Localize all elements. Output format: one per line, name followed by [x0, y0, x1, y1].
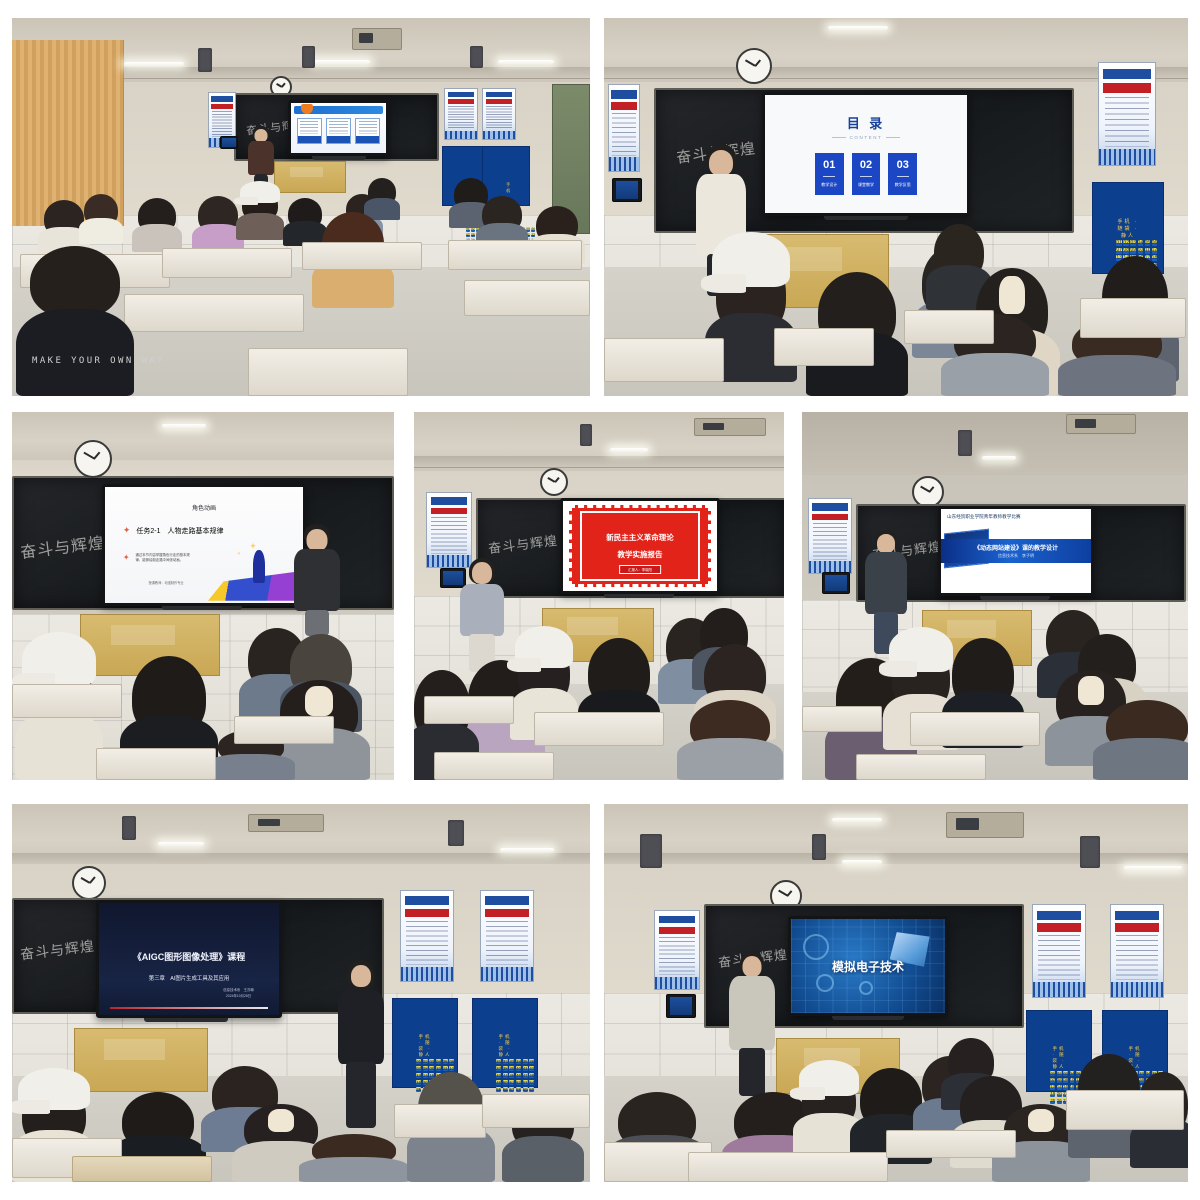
teacher-figure: [456, 558, 508, 672]
photo-collage: 奋斗与辉煌: [0, 0, 1200, 1200]
slide-box: [297, 118, 322, 144]
star-icon: ✦: [123, 525, 131, 536]
wall-clock: [540, 468, 568, 496]
student-desk: [886, 1130, 1016, 1158]
pocket-board-header: 手机 · 随袋 · 静人: [1116, 218, 1139, 239]
slide-ring-decor: [859, 981, 873, 995]
student-figure: [288, 198, 322, 246]
student-desk: [774, 328, 874, 366]
slide-footer-text: 授课教师：动漫制作专业: [149, 580, 184, 585]
slide-title: 《动态网站建设》课的教学设计: [974, 543, 1058, 552]
slide-card: 03 教学反思: [888, 153, 917, 195]
student-figure: [802, 1072, 856, 1158]
slide-line1: 新民主主义革命理论: [606, 532, 674, 543]
student-desk: [72, 1156, 212, 1182]
student-foreground: [30, 246, 120, 396]
student-desk: [96, 748, 216, 780]
wall-clock: [736, 48, 772, 84]
presentation-screen: 模拟电子技术: [788, 916, 948, 1016]
slide-meta: 信息技术系 王亦琳 2024年10月28日: [223, 988, 254, 999]
slide-byline: 汇报人：李晓阳: [619, 565, 661, 574]
wooden-podium: [274, 161, 346, 193]
slide-card: 01 教学设计: [815, 153, 844, 195]
slide-content-menu: 目 录 CONTENT 01 教学设计: [765, 95, 967, 213]
ceiling-beam: [414, 456, 784, 468]
photo-classroom-ideology-report: 奋斗与辉煌 新民主主义革命理论 教学实施报告 汇报人：李晓阳: [414, 412, 784, 780]
presentation-screen: 目 录 CONTENT 01 教学设计: [762, 92, 970, 216]
ceiling-light: [124, 62, 184, 66]
ceiling-light: [842, 860, 882, 864]
slide-header-band: [294, 106, 383, 114]
slide-byline: 信息技术系 李子明: [998, 553, 1034, 559]
star-icon: ✦: [123, 553, 130, 562]
artwork-path: [208, 566, 295, 601]
blackboard-chalk-text: 奋斗与辉煌: [19, 936, 96, 965]
pocket-board-header: 手机 · 随袋 · 静人: [1050, 1046, 1067, 1070]
screen-base: [162, 606, 242, 610]
ceiling-light: [498, 60, 554, 64]
jacket-text: MAKE YOUR OWN WAY: [32, 356, 165, 366]
ceiling-light: [162, 424, 206, 428]
pocket-board-header: 手机 · 随袋 · 静人: [416, 1034, 434, 1058]
slide-title-band: 《动态网站建设》课的教学设计 信息技术系 李子明: [941, 539, 1091, 563]
student-desk: [302, 242, 422, 270]
student-desk: [802, 706, 882, 732]
slide-line2: 教学实施报告: [618, 549, 663, 560]
blackboard-chalk-text: 奋斗与辉煌: [19, 529, 106, 563]
slide-subtitle: CONTENT: [832, 135, 901, 140]
sparkle-icon: ✦: [237, 551, 241, 557]
screen-base: [604, 594, 674, 598]
speaker-icon: [448, 820, 464, 846]
presentation-screen: 山东经贸职业学院青年教师教学比赛 《动态网站建设》课的教学设计 信息技术系 李子…: [938, 506, 1094, 596]
student-figure: [198, 196, 238, 254]
preview-monitor: [612, 178, 642, 202]
slide-number-badge: [301, 104, 314, 114]
student-figure: [84, 194, 118, 244]
student-desk: [910, 712, 1040, 746]
speaker-icon: [640, 834, 662, 868]
wall-poster: [654, 910, 700, 990]
wall-poster: [444, 88, 478, 140]
screen-base: [980, 596, 1050, 600]
student-desk: [1066, 1090, 1184, 1130]
pocket-grid: 313233343536 373839404142 434445464748 4…: [496, 1059, 514, 1093]
ceiling: [12, 412, 394, 460]
card-number: 03: [897, 159, 909, 171]
card-label: 课堂教学: [858, 182, 874, 188]
student-desk: [162, 248, 292, 278]
preview-monitor: [666, 994, 696, 1018]
wall-clock: [74, 440, 112, 478]
presentation-screen: 角色动画 ✦ 任务2-1 人物走路基本规律 ✦ 通过本节内容掌握角色行走的基本规…: [102, 484, 306, 606]
slide-task-text: 任务2-1 人物走路基本规律: [136, 526, 223, 536]
projector: [352, 28, 402, 50]
ceiling-light: [828, 26, 888, 30]
blackboard-chalk-text: 奋斗与辉煌: [487, 530, 559, 557]
screen-base: [312, 156, 366, 160]
wall-poster: [1032, 904, 1086, 998]
slide-body-text: 通过本节内容掌握角色行走的基本规律，能够绘制走路中间张动画。: [136, 553, 194, 563]
card-number: 02: [860, 159, 872, 171]
teacher-figure: [334, 960, 388, 1128]
student-desk: [856, 754, 986, 780]
projector: [946, 812, 1024, 838]
card-number: 01: [823, 159, 835, 171]
pocket-board-header: 手机 · 随袋 · 静人: [496, 1034, 514, 1058]
card-label: 教学设计: [821, 182, 837, 188]
student-figure: [242, 188, 278, 240]
wall-poster: [1098, 62, 1156, 166]
slide-box: [326, 118, 351, 144]
wooden-podium: [74, 1028, 208, 1092]
student-desk: [434, 752, 554, 780]
student-desk: [904, 310, 994, 344]
slide-three-box: [291, 103, 386, 153]
wall-clock: [72, 866, 106, 900]
student-desk: [424, 696, 514, 724]
speaker-icon: [1080, 836, 1100, 868]
slide-header: 山东经贸职业学院青年教师教学比赛: [947, 514, 1021, 520]
card-label: 教学反思: [895, 182, 911, 188]
student-figure: [312, 1134, 396, 1182]
slide-meta-line2: 2024年10月28日: [223, 994, 254, 999]
student-desk: [248, 348, 408, 396]
photo-classroom-animation-course: 奋斗与辉煌 角色动画 ✦ 任务2-1 人物走路基本规律 ✦ 通过本节内容掌握角色…: [12, 412, 394, 780]
ceiling-light: [158, 842, 204, 846]
student-desk: [1080, 298, 1186, 338]
ceiling-light: [312, 60, 370, 64]
artwork-figure: [253, 550, 265, 583]
slide-title: 模拟电子技术: [832, 958, 904, 975]
speaker-icon: [812, 834, 826, 860]
student-desk: [234, 716, 334, 744]
photo-classroom-aigc-course: 奋斗与辉煌 《AIGC图形图像处理》课程 第三章 AI图片生成工具及其应用 信息…: [12, 804, 590, 1182]
preview-monitor: [822, 572, 850, 594]
ceiling-light: [1124, 866, 1182, 870]
photo-classroom-lecture-wide: 奋斗与辉煌: [12, 18, 590, 396]
wall-poster: [426, 492, 472, 568]
slide-title: 角色动画: [192, 503, 216, 512]
presentation-screen: 新民主主义革命理论 教学实施报告 汇报人：李晓阳: [560, 498, 720, 594]
slide-animation-task: 角色动画 ✦ 任务2-1 人物走路基本规律 ✦ 通过本节内容掌握角色行走的基本规…: [105, 487, 303, 603]
slide-title: 《AIGC图形图像处理》课程: [133, 950, 246, 963]
photo-classroom-web-design: 奋斗与辉煌 山东经贸职业学院青年教师教学比赛 《动态网站建设》课的教学设计 信息…: [802, 412, 1188, 780]
photo-classroom-content-slide: 奋斗与辉煌 目 录 CONTENT 01: [604, 18, 1188, 396]
photo-classroom-analog-electronics: 奋斗与辉煌 模拟电子技术: [604, 804, 1188, 1182]
ceiling-light: [832, 818, 882, 822]
wall-poster: [482, 88, 516, 140]
ceiling-light: [500, 848, 554, 852]
screen-base: [144, 1018, 228, 1022]
student-desk: [534, 712, 664, 746]
speaker-icon: [198, 48, 212, 72]
student-desk: [124, 294, 304, 332]
ceiling-light: [982, 456, 1016, 460]
ceiling-beam: [12, 853, 590, 865]
student-desk: [482, 1094, 590, 1128]
student-figure: [690, 700, 770, 780]
projector: [1066, 414, 1136, 434]
wall-poster: [808, 498, 852, 574]
slide-subtitle: 第三章 AI图片生成工具及其应用: [149, 974, 230, 982]
wall-poster: [608, 84, 640, 172]
speaker-icon: [122, 816, 136, 840]
student-figure: [1106, 700, 1188, 780]
wall-poster: [400, 890, 454, 982]
slide-subtitle-text: CONTENT: [850, 135, 883, 140]
slide-box-group: [297, 118, 381, 144]
screen-base: [824, 216, 908, 220]
slide-card-group: 01 教学设计 02 课堂教学 03: [815, 153, 917, 195]
slide-box: [355, 118, 380, 144]
slide-body-row: ✦ 通过本节内容掌握角色行走的基本规律，能够绘制走路中间张动画。: [123, 553, 194, 563]
student-desk: [12, 684, 122, 718]
speaker-icon: [302, 46, 315, 68]
teacher-figure: [726, 952, 778, 1096]
slide-card: 02 课堂教学: [852, 153, 881, 195]
student-figure: [138, 198, 176, 252]
student-desk: [448, 240, 582, 270]
speaker-icon: [958, 430, 972, 456]
slide-artwork: ✦ ✦: [208, 537, 295, 601]
slide-task-row: ✦ 任务2-1 人物走路基本规律: [123, 525, 224, 536]
projector: [248, 814, 324, 832]
student-desk: [394, 1104, 486, 1138]
slide-analog-electronics: 模拟电子技术: [791, 919, 945, 1013]
slide-aigc-cover: 《AIGC图形图像处理》课程 第三章 AI图片生成工具及其应用 信息技术系 王亦…: [99, 903, 279, 1015]
sparkle-icon: ✦: [249, 541, 257, 552]
student-desk: [464, 280, 590, 316]
preview-monitor: [220, 136, 238, 149]
student-desk: [688, 1152, 888, 1182]
speaker-icon: [580, 424, 592, 446]
speaker-icon: [470, 46, 483, 68]
student-desk: [604, 338, 724, 382]
projector: [694, 418, 766, 436]
slide-ring-decor: [816, 974, 834, 992]
presentation-screen: 《AIGC图形图像处理》课程 第三章 AI图片生成工具及其应用 信息技术系 王亦…: [96, 900, 282, 1018]
ceiling-beam: [604, 853, 1188, 865]
ceiling-light: [610, 448, 648, 452]
wall-poster: [1110, 904, 1164, 998]
screen-base: [832, 1016, 904, 1020]
presentation-screen: [288, 100, 389, 156]
slide-title: 目 录: [847, 113, 885, 132]
slide-red-report: 新民主主义革命理论 教学实施报告 汇报人：李晓阳: [563, 501, 717, 591]
slide-red-inner: 新民主主义革命理论 教学实施报告 汇报人：李晓阳: [580, 511, 700, 581]
wall-poster: [480, 890, 534, 982]
slide-web-course: 山东经贸职业学院青年教师教学比赛 《动态网站建设》课的教学设计 信息技术系 李子…: [941, 509, 1091, 593]
teacher-figure: [290, 524, 344, 636]
slide-accent-bar: [110, 1007, 268, 1009]
